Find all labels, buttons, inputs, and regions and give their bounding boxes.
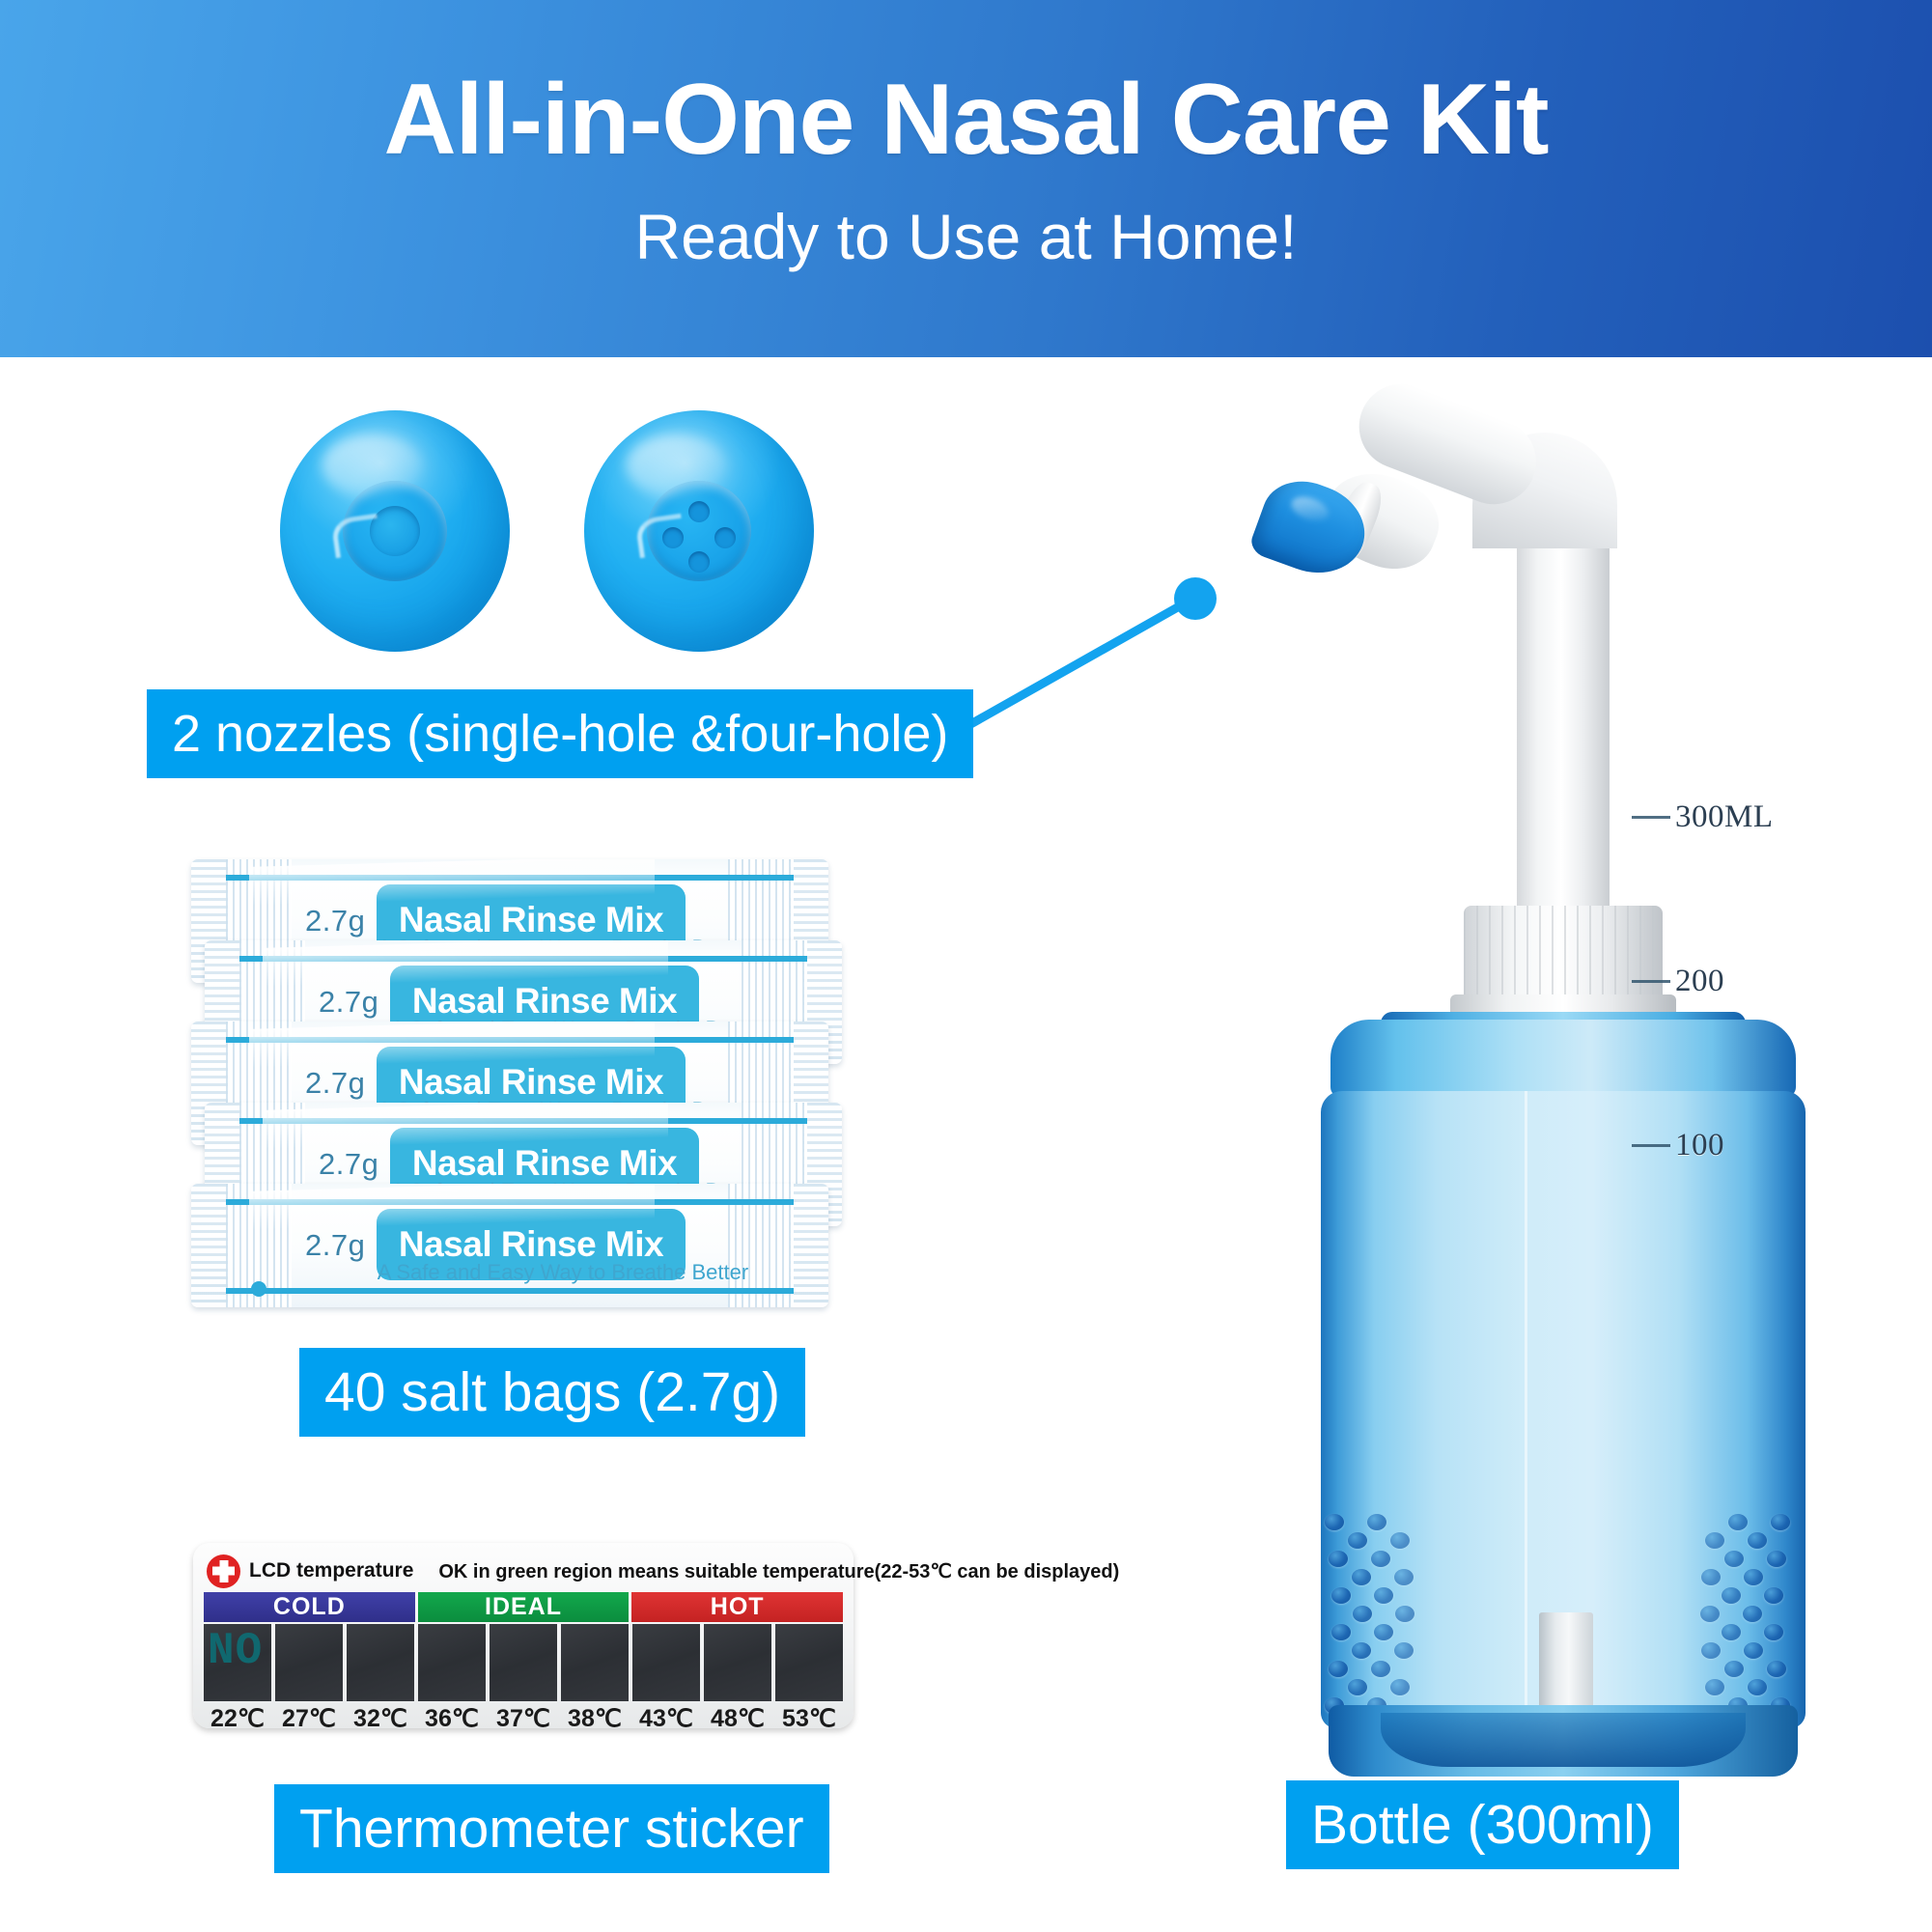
zone-cold: COLD	[204, 1592, 415, 1622]
nozzle-gloss	[322, 434, 423, 497]
bottle-grip-dimple	[1329, 1551, 1348, 1567]
bottle-grip-dimple	[1722, 1624, 1741, 1640]
zone-hot: HOT	[631, 1592, 843, 1622]
sachet-brand-name: Nasal Rinse Mix	[377, 1062, 686, 1103]
sachet-stripe	[239, 956, 807, 962]
bottle-grip-dimple	[1390, 1532, 1410, 1549]
lcd-temperature-label: LCD temperature	[249, 1559, 413, 1582]
bottle-grip-dimple	[1743, 1606, 1762, 1622]
bottle-grip-dimple	[1348, 1532, 1367, 1549]
single-hole-nozzle	[280, 410, 510, 652]
nozzle-highlight-arc	[634, 514, 686, 558]
label-bottle: Bottle (300ml)	[1286, 1780, 1679, 1869]
thermometer-cells: NO	[204, 1624, 843, 1701]
thermometer-cell	[347, 1624, 414, 1701]
bottle-grip-dimple	[1722, 1587, 1741, 1604]
bottle-grip-dimples-left	[1325, 1514, 1417, 1717]
sachet-serration	[790, 1184, 828, 1307]
measure-200-label: 200	[1675, 964, 1724, 999]
thermometer-cell-reading: NO	[208, 1626, 263, 1676]
sachet-brand-name: Nasal Rinse Mix	[390, 981, 699, 1022]
bottle-grip-dimple	[1374, 1587, 1393, 1604]
measure-100-label: 100	[1675, 1128, 1724, 1163]
sachet-stripe	[226, 1199, 794, 1205]
bottle-grip-dimple	[1394, 1569, 1414, 1585]
sachet-grams: 2.7g	[319, 1147, 378, 1182]
thermometer-header: LCD temperature OK in green region means…	[204, 1552, 843, 1590]
thermometer-temp-label: 38℃	[561, 1702, 629, 1735]
bottle-grip-dimple	[1329, 1661, 1348, 1677]
measure-300ml: 300ML	[1632, 799, 1774, 835]
bottle-grip-dimples-right	[1707, 1514, 1800, 1717]
sachet-grams: 2.7g	[319, 985, 378, 1020]
page-subtitle: Ready to Use at Home!	[0, 170, 1932, 268]
thermometer-cell	[632, 1624, 700, 1701]
bottle-grip-dimple	[1331, 1587, 1351, 1604]
sachet-grams: 2.7g	[305, 1066, 365, 1101]
label-nozzles: 2 nozzles (single-hole &four-hole)	[147, 689, 973, 778]
bottle-grip-dimple	[1701, 1569, 1721, 1585]
bottle-grip-dimple	[1395, 1606, 1414, 1622]
nozzle-highlight-arc	[330, 514, 381, 558]
thermometer-temperature-scale: 22℃27℃32℃36℃37℃38℃43℃48℃53℃	[204, 1702, 843, 1735]
sachet-serration	[191, 1184, 230, 1307]
bottle-grip-dimple	[1705, 1679, 1724, 1695]
medical-cross-icon	[207, 1554, 240, 1588]
thermometer-temp-label: 37℃	[490, 1702, 557, 1735]
bottle-grip-dimple	[1371, 1551, 1390, 1567]
bottle-grip-dimple	[1748, 1679, 1767, 1695]
sachet-tagline: A Safe and Easy Way to Breathe Better	[346, 1260, 780, 1285]
thermometer-note: OK in green region means suitable temper…	[438, 1559, 1119, 1583]
sachet-brand-name: Nasal Rinse Mix	[390, 1143, 699, 1184]
bottle-grip-dimple	[1728, 1514, 1748, 1530]
bottle-grip-dimple	[1353, 1606, 1372, 1622]
thermometer-sticker: LCD temperature OK in green region means…	[193, 1543, 854, 1728]
thermometer-cell: NO	[204, 1624, 271, 1701]
four-hole-nozzle	[584, 410, 814, 652]
thermometer-zones: COLD IDEAL HOT	[204, 1592, 843, 1622]
thermometer-temp-label: 36℃	[418, 1702, 486, 1735]
bottle-grip-dimple	[1352, 1642, 1371, 1659]
bottle-grip-dimple	[1724, 1551, 1744, 1567]
thermometer-temp-label: 32℃	[347, 1702, 414, 1735]
salt-sachet: 2.7gNasal Rinse MixA Safe and Easy Way t…	[191, 1184, 828, 1307]
nozzle-hole	[688, 501, 710, 522]
sachet-grams: 2.7g	[305, 904, 365, 938]
page-title: All-in-One Nasal Care Kit	[0, 0, 1932, 170]
label-salt-bags: 40 salt bags (2.7g)	[299, 1348, 805, 1437]
bottle-grip-dimple	[1394, 1642, 1414, 1659]
sachet-stripe	[226, 1037, 794, 1043]
thermometer-temp-label: 22℃	[204, 1702, 271, 1735]
thermometer-cell	[275, 1624, 343, 1701]
bottle-grip-dimple	[1764, 1587, 1783, 1604]
measure-tick	[1632, 816, 1670, 819]
header-banner: All-in-One Nasal Care Kit Ready to Use a…	[0, 0, 1932, 357]
measure-tick	[1632, 980, 1670, 983]
bottle-grip-dimple	[1764, 1624, 1783, 1640]
bottle-grip-dimple	[1744, 1569, 1763, 1585]
measure-200: 200	[1632, 964, 1724, 999]
bottle-grip-dimple	[1767, 1551, 1786, 1567]
sachet-brand-name: Nasal Rinse Mix	[377, 900, 686, 940]
sachet-stripe	[226, 1288, 794, 1294]
nasal-rinse-bottle: 300ML 200 100	[1236, 425, 1719, 1699]
sachet-stripe	[226, 875, 794, 881]
bottle-grip-dimple	[1771, 1514, 1790, 1530]
bottle-grip-dimple	[1701, 1642, 1721, 1659]
bottle-grip-dimple	[1331, 1624, 1351, 1640]
thermometer-temp-label: 43℃	[632, 1702, 700, 1735]
bottle-base-inner	[1381, 1713, 1746, 1767]
label-thermometer: Thermometer sticker	[274, 1784, 829, 1873]
bottle-grip-dimple	[1724, 1661, 1744, 1677]
bottle-grip-dimple	[1705, 1532, 1724, 1549]
nozzle-hole	[714, 527, 736, 548]
bottle-shoulder	[1330, 1020, 1796, 1097]
bottle-grip-dimple	[1348, 1679, 1367, 1695]
thermometer-cell	[704, 1624, 771, 1701]
thermometer-cell	[490, 1624, 557, 1701]
thermometer-temp-label: 27℃	[275, 1702, 343, 1735]
bottle-grip-dimple	[1767, 1661, 1786, 1677]
thermometer-temp-label: 53℃	[775, 1702, 843, 1735]
salt-bags-stack: 2.7gNasal Rinse MixA Safe and Easy Way t…	[191, 859, 857, 1308]
bottle-grip-dimple	[1325, 1514, 1344, 1530]
measure-tick	[1632, 1144, 1670, 1147]
sachet-dot	[251, 1281, 266, 1297]
measure-100: 100	[1632, 1128, 1724, 1163]
bottle-grip-dimple	[1744, 1642, 1763, 1659]
bottle-grip-dimple	[1374, 1624, 1393, 1640]
zone-ideal: IDEAL	[418, 1592, 630, 1622]
bottle-grip-dimple	[1390, 1679, 1410, 1695]
bottle-grip-dimple	[1748, 1532, 1767, 1549]
nozzle-hole	[688, 551, 710, 573]
bottle-grip-dimple	[1700, 1606, 1720, 1622]
nozzle-gloss	[626, 434, 727, 497]
thermometer-cell	[775, 1624, 843, 1701]
bottle-grip-dimple	[1371, 1661, 1390, 1677]
bottle-grip-dimple	[1367, 1514, 1386, 1530]
thermometer-temp-label: 48℃	[704, 1702, 771, 1735]
bottle-grip-dimple	[1352, 1569, 1371, 1585]
spout-vertical-tube	[1517, 492, 1610, 946]
sachet-brand-name: Nasal Rinse Mix	[377, 1224, 686, 1265]
sachet-stripe	[239, 1118, 807, 1124]
measure-300ml-label: 300ML	[1675, 799, 1774, 835]
sachet-grams: 2.7g	[305, 1228, 365, 1263]
thermometer-cell	[561, 1624, 629, 1701]
thermometer-cell	[418, 1624, 486, 1701]
